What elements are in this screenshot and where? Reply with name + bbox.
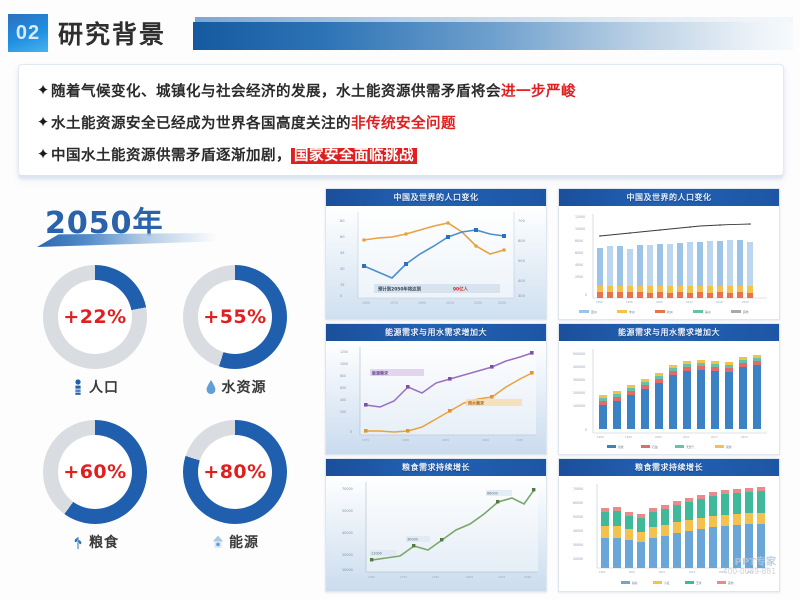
svg-text:小麦: 小麦: [664, 581, 670, 585]
svg-text:60000: 60000: [573, 501, 583, 505]
svg-text:1200: 1200: [340, 350, 348, 354]
donut-ring: +60%: [43, 420, 147, 524]
donut-value: +80%: [203, 461, 266, 483]
bullet-text-normal: 随着气候变化、城镇化与社会经济的发展，水土能资源供需矛盾将会: [51, 84, 501, 100]
donut-label-row: 能源: [165, 532, 305, 552]
svg-text:70000: 70000: [342, 487, 353, 491]
svg-text:非洲: 非洲: [629, 310, 635, 314]
data-label-end: 66000: [487, 492, 498, 496]
chart-canvas: 700005500040000 2500010000 11000 30000 6…: [326, 476, 546, 591]
svg-text:0: 0: [585, 428, 587, 432]
svg-text:1950: 1950: [362, 301, 370, 305]
bullet-text-normal: 中国水土能资源供需矛盾逐渐加剧，: [51, 148, 291, 164]
donut-value: +60%: [63, 461, 126, 483]
svg-text:1998: 1998: [626, 300, 633, 304]
svg-text:20000: 20000: [573, 557, 583, 561]
donut-center: +60%: [58, 435, 132, 509]
svg-text:稻谷: 稻谷: [632, 581, 638, 585]
svg-text:2007: 2007: [659, 571, 666, 574]
donut-stat-energy: +80% 能源: [165, 420, 305, 570]
bullet-text: 中国水土能资源供需矛盾逐渐加剧，国家安全面临挑战: [51, 144, 417, 165]
donut-label: 能源: [229, 532, 259, 552]
svg-text:30: 30: [340, 267, 345, 271]
svg-text:40000: 40000: [342, 531, 353, 535]
svg-text:2006: 2006: [656, 300, 663, 304]
svg-text:2011: 2011: [683, 435, 690, 439]
chart-title: 粮食需求持续增长: [559, 459, 779, 476]
chart-caption-part1: 预计到2050年将达到: [378, 286, 422, 293]
svg-text:600: 600: [518, 239, 526, 243]
svg-text:亚洲: 亚洲: [591, 310, 597, 314]
svg-text:1990: 1990: [432, 575, 439, 579]
chart-title: 能源需求与用水需求增加大: [559, 324, 779, 341]
svg-text:0: 0: [350, 430, 352, 434]
slide-root: 02 研究背景 ✦ 随着气候变化、城镇化与社会经济的发展，水土能资源供需矛盾将会…: [0, 0, 800, 600]
svg-text:1960: 1960: [368, 575, 375, 579]
svg-text:300: 300: [518, 294, 526, 298]
svg-text:70000: 70000: [573, 487, 583, 491]
svg-text:200: 200: [340, 410, 346, 414]
chart-caption-part2: 90亿人: [453, 286, 469, 293]
svg-text:45: 45: [340, 251, 345, 255]
donut-label: 人口: [89, 377, 119, 397]
svg-text:400: 400: [518, 279, 526, 283]
svg-text:1990: 1990: [596, 300, 603, 304]
svg-text:1000: 1000: [340, 362, 348, 366]
svg-text:500: 500: [518, 259, 526, 263]
svg-text:1999: 1999: [625, 435, 632, 439]
svg-text:100000: 100000: [573, 404, 585, 408]
svg-text:30000: 30000: [573, 543, 583, 547]
svg-text:2005: 2005: [442, 438, 449, 442]
chart-title: 中国及世界的人口变化: [559, 189, 779, 206]
svg-text:2020: 2020: [742, 300, 749, 304]
svg-text:玉米: 玉米: [696, 581, 702, 585]
year-heading: 2050年: [45, 198, 235, 256]
chart-canvas: 806045 30150 700600500 400300 19501970: [326, 206, 546, 319]
svg-text:2017: 2017: [719, 571, 726, 574]
svg-text:0: 0: [585, 293, 587, 297]
donut-center: +55%: [198, 280, 272, 354]
chart-title: 能源需求与用水需求增加大: [326, 324, 546, 341]
chart-panel-water-line[interactable]: 能源需求与用水需求增加大 12001000800 6004002000: [325, 323, 547, 455]
grain-icon: [71, 534, 85, 550]
bullet-text-emphasis: 进一步严峻: [501, 84, 576, 100]
svg-text:60: 60: [340, 235, 345, 239]
svg-text:40000: 40000: [573, 529, 583, 533]
chart-canvas: 12001000800 6004002000 能源需求 用水需求: [326, 341, 546, 454]
svg-text:8000: 8000: [575, 239, 583, 243]
svg-text:2015: 2015: [498, 575, 505, 579]
slide-header: 02 研究背景: [0, 14, 800, 52]
svg-text:1975: 1975: [400, 575, 407, 579]
svg-text:其他: 其他: [743, 310, 749, 314]
donut-label: 水资源: [222, 377, 267, 397]
data-label-mid: 30000: [407, 538, 418, 542]
svg-text:1990: 1990: [402, 438, 409, 442]
svg-text:2020: 2020: [524, 575, 531, 579]
donut-center: +80%: [198, 435, 272, 509]
svg-text:2023: 2023: [741, 435, 748, 439]
donut-label-row: 人口: [25, 377, 165, 397]
svg-text:2012: 2012: [686, 300, 693, 304]
svg-text:2020: 2020: [482, 438, 489, 442]
chart-panel-pop-line[interactable]: 中国及世界的人口变化 806045 30150: [325, 188, 547, 320]
svg-text:天然气: 天然气: [686, 445, 695, 449]
line-chart-svg: 12001000800 6004002000 能源需求 用水需求: [326, 341, 546, 454]
svg-text:700: 700: [518, 219, 526, 223]
svg-text:1995: 1995: [599, 571, 606, 574]
bullet-text-highlight: 国家安全面临挑战: [291, 148, 417, 164]
year-swoosh-decoration: [37, 233, 217, 247]
svg-text:2050: 2050: [498, 301, 506, 305]
svg-text:2016: 2016: [716, 300, 723, 304]
donut-ring: +80%: [183, 420, 287, 524]
svg-text:15: 15: [340, 283, 345, 287]
svg-text:煤炭: 煤炭: [618, 445, 624, 449]
donut-stat-food: +60% 粮食: [25, 420, 165, 570]
svg-text:50000: 50000: [573, 515, 583, 519]
svg-text:1970: 1970: [362, 438, 369, 442]
svg-text:12000: 12000: [575, 215, 585, 219]
svg-text:其他: 其他: [726, 445, 732, 449]
donut-label: 粮食: [89, 532, 119, 552]
bullet-item: ✦ 中国水土能资源供需矛盾逐渐加剧，国家安全面临挑战: [35, 143, 417, 165]
chart-panel-pop-bars[interactable]: 中国及世界的人口变化 12000100008000 6000400020000: [558, 188, 780, 320]
line-chart-svg: 806045 30150 700600500 400300 19501970: [326, 206, 546, 319]
stacked-bar-chart-svg: 700006000050000 400003000020000: [559, 476, 779, 591]
svg-text:石油: 石油: [652, 445, 658, 449]
donut-center: +22%: [58, 280, 132, 354]
svg-text:2005: 2005: [466, 575, 473, 579]
chart-panel-food-line[interactable]: 粮食需求持续增长 700005500040000 2500010000: [325, 458, 547, 592]
svg-text:400000: 400000: [573, 365, 585, 369]
chart-title: 粮食需求持续增长: [326, 459, 546, 476]
svg-text:200000: 200000: [573, 391, 585, 395]
svg-text:10000: 10000: [342, 568, 353, 572]
svg-text:2010: 2010: [446, 301, 454, 305]
water-drop-icon: [204, 379, 218, 395]
svg-text:600: 600: [340, 386, 346, 390]
svg-text:2000: 2000: [575, 275, 583, 279]
bullet-item: ✦ 水土能资源安全已经成为世界各国高度关注的非传统安全问题: [35, 111, 456, 133]
svg-text:2017: 2017: [711, 435, 718, 439]
chart-canvas: 700006000050000 400003000020000: [559, 476, 779, 591]
bullet-box: ✦ 随着气候变化、城镇化与社会经济的发展，水土能资源供需矛盾将会进一步严峻 ✦ …: [18, 64, 784, 176]
bullet-marker-icon: ✦: [35, 83, 51, 98]
bullet-marker-icon: ✦: [35, 147, 51, 162]
series-label-energy: 能源需求: [372, 370, 389, 376]
energy-icon: [211, 534, 225, 550]
svg-text:2013: 2013: [689, 571, 696, 574]
svg-text:6000: 6000: [575, 251, 583, 255]
donut-stat-population: +22% 人口: [25, 265, 165, 415]
chart-title: 中国及世界的人口变化: [326, 189, 546, 206]
bullet-text-emphasis: 非传统安全问题: [351, 116, 456, 132]
donut-stat-water: +55% 水资源: [165, 265, 305, 415]
bullet-marker-icon: ✦: [35, 115, 51, 130]
donut-ring: +22%: [43, 265, 147, 369]
line-chart-svg: 700005500040000 2500010000 11000 30000 6…: [326, 476, 546, 591]
svg-text:80: 80: [340, 219, 345, 223]
page-title: 研究背景: [58, 14, 166, 52]
svg-text:欧洲: 欧洲: [667, 310, 673, 314]
bullet-text: 随着气候变化、城镇化与社会经济的发展，水土能资源供需矛盾将会进一步严峻: [51, 80, 576, 101]
svg-text:55000: 55000: [342, 509, 353, 513]
chart-canvas: 500000400000300000 2000001000000: [559, 341, 779, 454]
svg-text:300000: 300000: [573, 378, 585, 382]
bullet-text-normal: 水土能资源安全已经成为世界各国高度关注的: [51, 116, 351, 132]
donut-value: +55%: [203, 306, 266, 328]
chart-canvas: 12000100008000 6000400020000: [559, 206, 779, 319]
svg-text:800: 800: [340, 374, 346, 378]
chart-panel-food-bars[interactable]: 粮食需求持续增长 700006000050000 400003000020000: [558, 458, 780, 592]
bullet-item: ✦ 随着气候变化、城镇化与社会经济的发展，水土能资源供需矛盾将会进一步严峻: [35, 79, 576, 101]
donut-value: +22%: [63, 306, 126, 328]
svg-text:1990: 1990: [597, 435, 604, 439]
svg-text:2021: 2021: [747, 571, 754, 574]
series-label-water: 用水需求: [467, 400, 485, 406]
chart-panel-energy-bars[interactable]: 能源需求与用水需求增加大 500000400000300000 20000010…: [558, 323, 780, 455]
svg-text:400: 400: [340, 398, 346, 402]
stacked-bar-chart-svg: 12000100008000 6000400020000: [559, 206, 779, 319]
svg-text:25000: 25000: [342, 553, 353, 557]
stacked-bar-chart-svg: 500000400000300000 2000001000000: [559, 341, 779, 454]
svg-text:500000: 500000: [573, 352, 585, 356]
svg-text:美洲: 美洲: [705, 310, 711, 314]
svg-text:2001: 2001: [629, 571, 636, 574]
svg-text:10000: 10000: [575, 227, 585, 231]
svg-text:2030: 2030: [516, 438, 523, 442]
svg-text:1990: 1990: [418, 301, 426, 305]
section-number-badge: 02: [8, 14, 48, 52]
population-icon: [71, 379, 85, 395]
header-accent-bar: [193, 17, 793, 50]
chart-grid: 中国及世界的人口变化 806045 30150: [325, 188, 780, 593]
svg-text:2030: 2030: [474, 301, 482, 305]
donut-ring: +55%: [183, 265, 287, 369]
donut-stats-group: +22% 人口 +55% 水资源: [20, 265, 310, 575]
svg-text:4000: 4000: [575, 263, 583, 267]
data-label-start: 11000: [371, 552, 382, 556]
donut-label-row: 水资源: [165, 377, 305, 397]
donut-label-row: 粮食: [25, 532, 165, 552]
bullet-text: 水土能资源安全已经成为世界各国高度关注的非传统安全问题: [51, 112, 456, 133]
header-accent-bar-main: [193, 22, 793, 50]
svg-text:2005: 2005: [655, 435, 662, 439]
svg-text:其他: 其他: [728, 581, 734, 585]
svg-text:1970: 1970: [390, 301, 398, 305]
